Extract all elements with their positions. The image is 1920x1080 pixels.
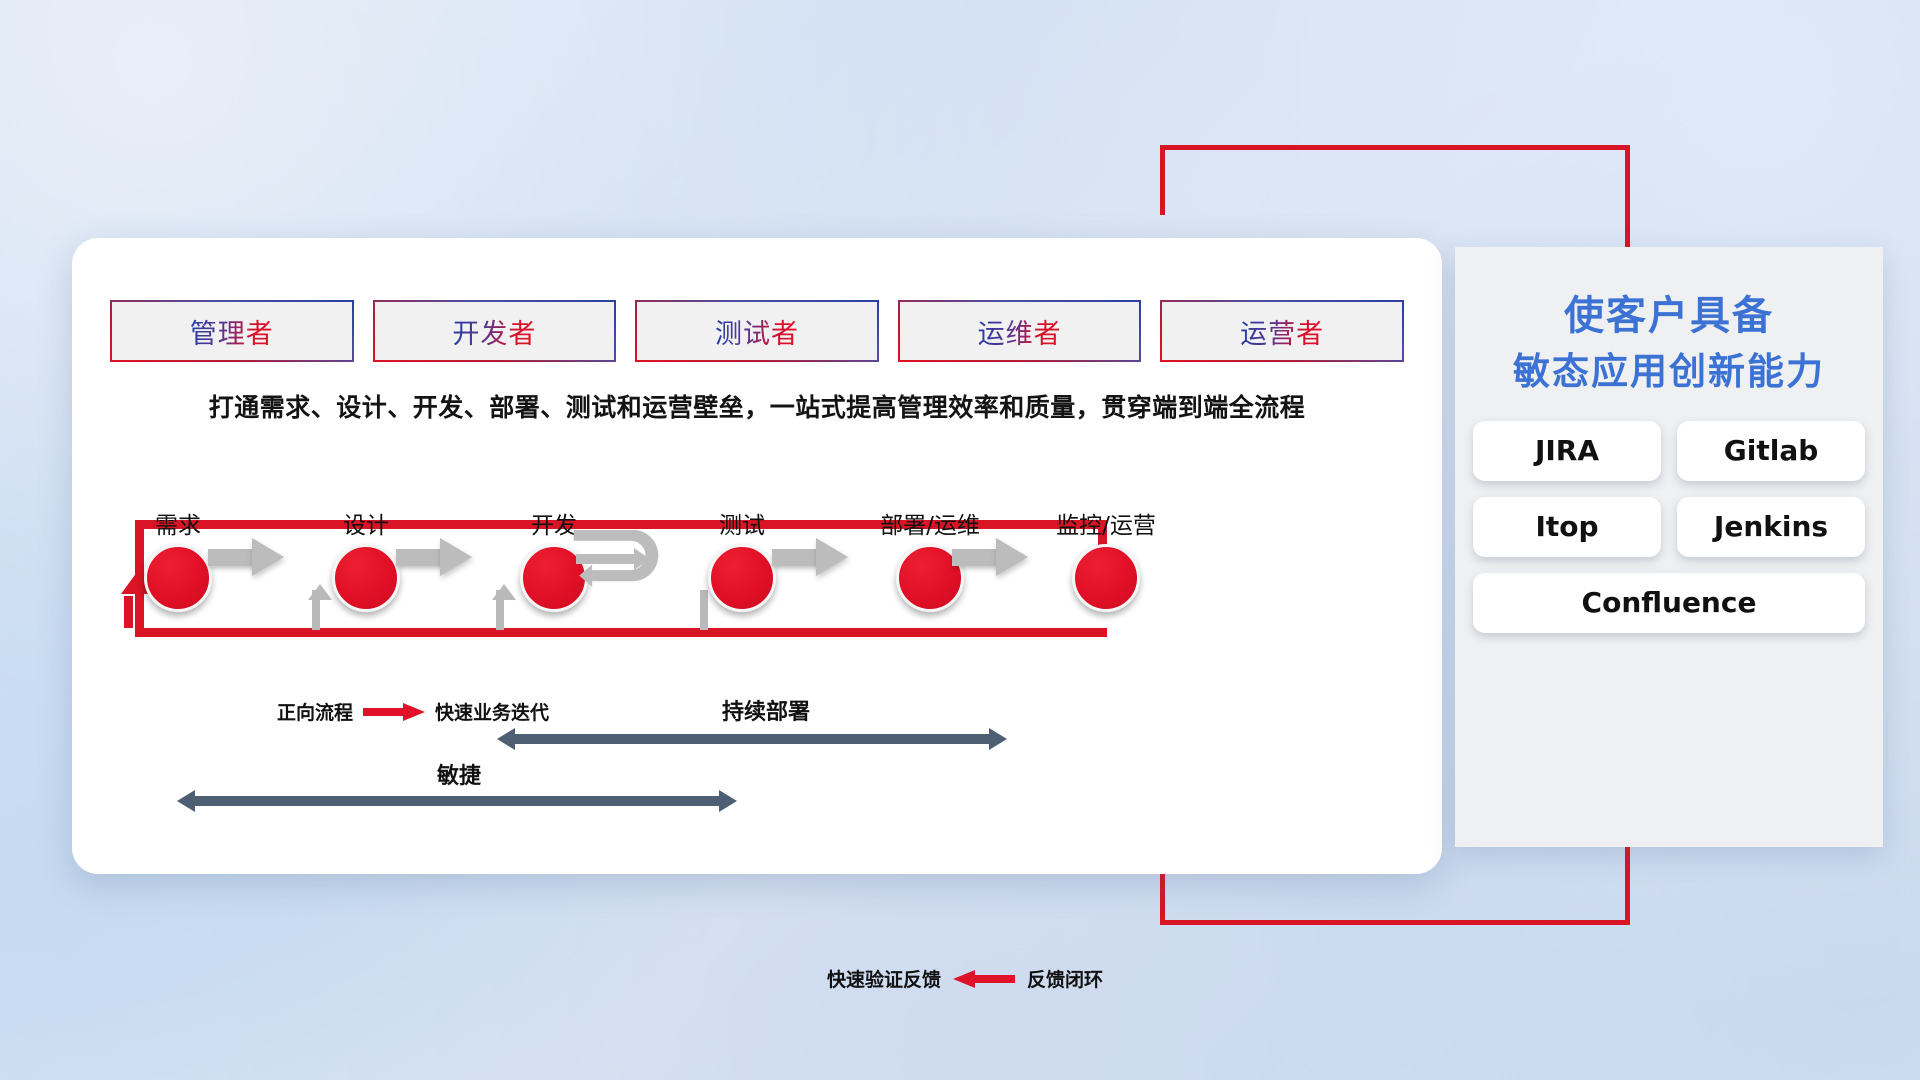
tool-badge-list: JIRA Gitlab Itop Jenkins Confluence: [1473, 421, 1865, 633]
description-text: 打通需求、设计、开发、部署、测试和运营壁垒，一站式提高管理效率和质量，贯穿端到端…: [110, 388, 1404, 424]
legend-feedback-left-label: 快速验证反馈: [827, 965, 941, 992]
main-diagram-card: 管理者 开发者 测试者 运维者 运营者 打通需求、设计、开发、部署、测试和运营壁…: [72, 238, 1442, 874]
role-label: 运维者: [978, 312, 1062, 351]
legend-feedback-loop: 快速验证反馈 反馈闭环: [827, 965, 1103, 992]
tool-label: Itop: [1535, 510, 1598, 543]
legend-forward-right-label: 快速业务迭代: [435, 698, 549, 725]
stage-label: 部署/运维: [860, 506, 1000, 540]
role-box-row: 管理者 开发者 测试者 运维者 运营者: [110, 300, 1404, 362]
bracket-top-left-stub: [1160, 145, 1165, 215]
span-label-continuous-deployment: 持续部署: [722, 694, 810, 726]
connector-arrow-design-development-icon: [396, 538, 472, 576]
span-arrow-agile: [177, 790, 737, 812]
stage-label: 测试: [672, 506, 812, 540]
tool-badge-jenkins[interactable]: Jenkins: [1677, 497, 1865, 557]
uturn-loop-arrow-icon: [570, 530, 682, 592]
role-box-tester[interactable]: 测试者: [635, 300, 879, 362]
arrow-right-red-icon: [363, 705, 425, 719]
panel-title-line1: 使客户具备: [1455, 287, 1883, 345]
role-label: 开发者: [452, 312, 536, 351]
legend-feedback-right-label: 反馈闭环: [1027, 965, 1103, 992]
loop-bottom-bar: [135, 628, 1107, 637]
stage-monitor-operate[interactable]: 监控/运营: [1036, 506, 1176, 612]
panel-title-line2: 敏态应用创新能力: [1455, 345, 1883, 399]
role-label: 测试者: [715, 312, 799, 351]
stage-node-circle: [1072, 544, 1140, 612]
arrow-left-red-icon: [953, 972, 1015, 986]
legend-forward-flow: 正向流程 快速业务迭代: [277, 698, 549, 725]
role-box-operations[interactable]: 运维者: [898, 300, 1142, 362]
bracket-top-segment: [1160, 145, 1630, 150]
tool-badge-gitlab[interactable]: Gitlab: [1677, 421, 1865, 481]
connector-arrow-deploy-monitor-icon: [952, 538, 1028, 576]
value-proposition-panel: 使客户具备 敏态应用创新能力 JIRA Gitlab Itop Jenkins …: [1455, 247, 1883, 847]
tool-badge-confluence[interactable]: Confluence: [1473, 573, 1865, 633]
tool-label: Confluence: [1582, 586, 1757, 619]
stage-label: 设计: [296, 506, 436, 540]
connector-arrow-requirement-design-icon: [208, 538, 284, 576]
stage-label: 监控/运营: [1036, 506, 1176, 540]
role-box-developer[interactable]: 开发者: [373, 300, 617, 362]
span-arrow-continuous-deployment: [497, 728, 1007, 750]
tool-label: JIRA: [1535, 434, 1599, 467]
bracket-bottom-segment: [1160, 920, 1630, 925]
tool-label: Gitlab: [1724, 434, 1819, 467]
legend-forward-left-label: 正向流程: [277, 698, 353, 725]
tool-badge-itop[interactable]: Itop: [1473, 497, 1661, 557]
role-box-business-operator[interactable]: 运营者: [1160, 300, 1404, 362]
panel-title: 使客户具备 敏态应用创新能力: [1455, 287, 1883, 399]
connector-arrow-testing-deploy-icon: [772, 538, 848, 576]
stage-node-circle: [144, 544, 212, 612]
role-box-manager[interactable]: 管理者: [110, 300, 354, 362]
stage-label: 需求: [108, 506, 248, 540]
role-label: 管理者: [190, 312, 274, 351]
tool-label: Jenkins: [1714, 510, 1828, 543]
role-label: 运营者: [1240, 312, 1324, 351]
tool-badge-jira[interactable]: JIRA: [1473, 421, 1661, 481]
span-label-agile: 敏捷: [437, 758, 481, 790]
stage-node-circle: [708, 544, 776, 612]
stage-node-circle: [332, 544, 400, 612]
